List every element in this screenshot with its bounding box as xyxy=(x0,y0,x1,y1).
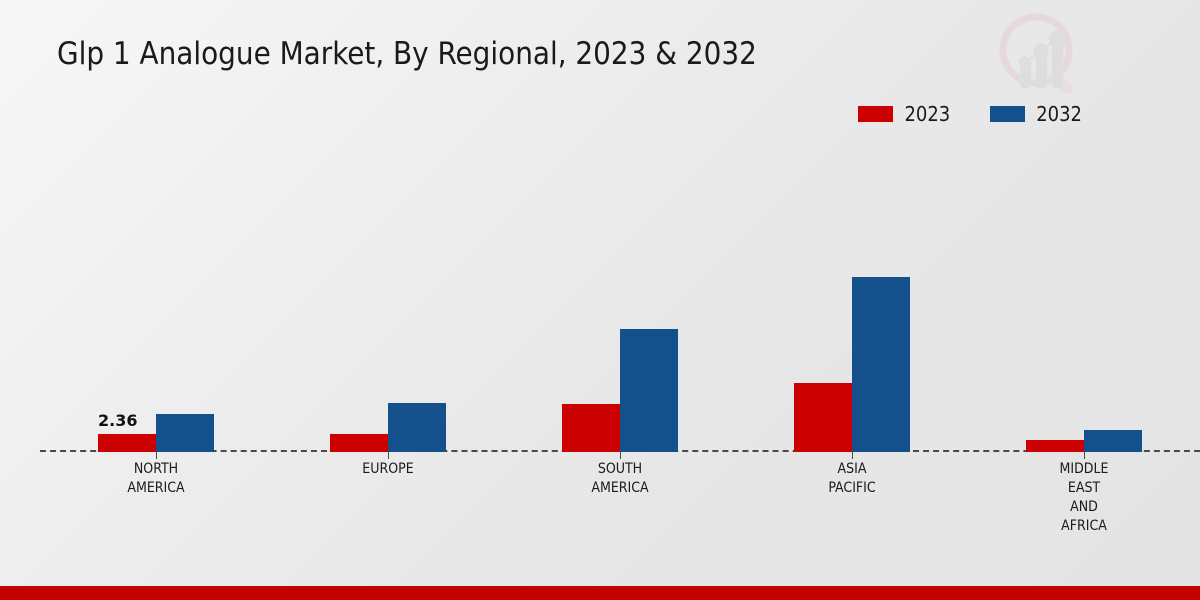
bar-2023-asia-pacific[interactable] xyxy=(794,383,852,452)
bars-europe xyxy=(330,150,446,452)
category-label-europe: EUROPE xyxy=(362,460,413,479)
axis-tick-europe xyxy=(388,452,389,459)
axis-tick-south-america xyxy=(620,452,621,459)
bars-south-america xyxy=(562,150,678,452)
category-label-middle-east-and-africa: MIDDLE EAST AND AFRICA xyxy=(1060,460,1109,536)
axis-tick-middle-east-and-africa xyxy=(1084,452,1085,459)
category-label-asia-pacific: ASIA PACIFIC xyxy=(828,460,875,498)
bar-value-label-north-america-2023: 2.36 xyxy=(98,411,137,430)
legend-swatch-2023 xyxy=(858,106,893,122)
bar-2032-middle-east-and-africa[interactable] xyxy=(1084,430,1142,452)
bar-2023-south-america[interactable] xyxy=(562,404,620,452)
category-label-south-america: SOUTH AMERICA xyxy=(591,460,648,498)
legend-swatch-2032 xyxy=(990,106,1025,122)
legend-label-2023: 2023 xyxy=(904,104,950,124)
bar-2023-middle-east-and-africa[interactable] xyxy=(1026,440,1084,452)
bar-group-europe: EUROPE xyxy=(272,150,504,452)
bar-group-middle-east-and-africa: MIDDLE EAST AND AFRICA xyxy=(968,150,1200,452)
plot-area: 2.36 NORTH AMERICA EUROPE SOUTH AMERICA xyxy=(40,150,1200,452)
legend-item-2032[interactable]: 2032 xyxy=(990,104,1082,124)
legend-label-2032: 2032 xyxy=(1036,104,1082,124)
bars-north-america xyxy=(98,150,214,452)
bar-2032-south-america[interactable] xyxy=(620,329,678,452)
bar-group-south-america: SOUTH AMERICA xyxy=(504,150,736,452)
bar-2032-north-america[interactable] xyxy=(156,414,214,452)
bar-2032-asia-pacific[interactable] xyxy=(852,277,910,452)
legend-item-2023[interactable]: 2023 xyxy=(858,104,950,124)
chart-legend: 2023 2032 xyxy=(858,104,1082,124)
bar-2032-europe[interactable] xyxy=(388,403,446,452)
axis-tick-asia-pacific xyxy=(852,452,853,459)
bar-group-north-america: 2.36 NORTH AMERICA xyxy=(40,150,272,452)
bar-groups: 2.36 NORTH AMERICA EUROPE SOUTH AMERICA xyxy=(40,150,1200,452)
chart-page: Glp 1 Analogue Market, By Regional, 2023… xyxy=(0,0,1200,600)
chart-title: Glp 1 Analogue Market, By Regional, 2023… xyxy=(57,36,757,72)
bars-middle-east-and-africa xyxy=(1026,150,1142,452)
category-label-north-america: NORTH AMERICA xyxy=(127,460,184,498)
magnifier-bar-chart-logo-icon xyxy=(992,6,1088,102)
bar-2023-europe[interactable] xyxy=(330,434,388,452)
bars-asia-pacific xyxy=(794,150,910,452)
footer-accent-strip xyxy=(0,586,1200,600)
axis-tick-north-america xyxy=(156,452,157,459)
bar-group-asia-pacific: ASIA PACIFIC xyxy=(736,150,968,452)
bar-2023-north-america[interactable] xyxy=(98,434,156,452)
